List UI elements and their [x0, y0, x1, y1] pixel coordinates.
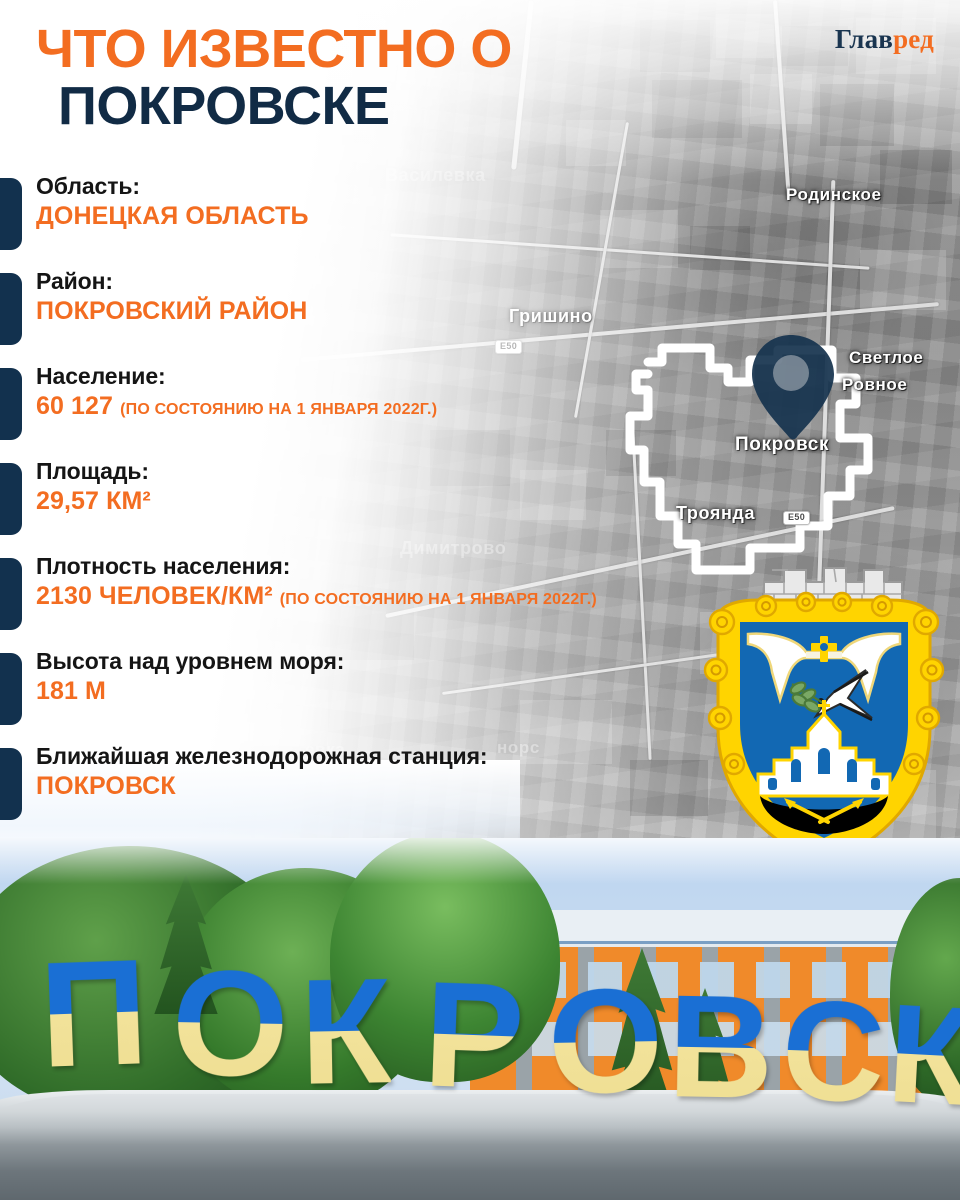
fact-row: Район:ПОКРОВСКИЙ РАЙОН — [0, 267, 760, 362]
fact-label: Население: — [36, 362, 437, 390]
fact-bullet-marker — [0, 273, 22, 345]
fact-label: Район: — [36, 267, 307, 295]
fact-value: ПОКРОВСК — [36, 771, 487, 802]
fact-content: Высота над уровнем моря:181 М — [36, 647, 344, 707]
fact-label: Плотность населения: — [36, 552, 597, 580]
page-title-line2: ПОКРОВСКЕ — [36, 76, 930, 136]
fact-note: (ПО СОСТОЯНИЮ НА 1 ЯНВАРЯ 2022Г.) — [120, 401, 437, 418]
fact-value: 2130 ЧЕЛОВЕК/КМ² (ПО СОСТОЯНИЮ НА 1 ЯНВА… — [36, 581, 597, 612]
fact-row: Область:ДОНЕЦКАЯ ОБЛАСТЬ — [0, 172, 760, 267]
fact-content: Население:60 127 (ПО СОСТОЯНИЮ НА 1 ЯНВА… — [36, 362, 437, 422]
facts-list: Область:ДОНЕЦКАЯ ОБЛАСТЬРайон:ПОКРОВСКИЙ… — [0, 172, 760, 837]
header: ЧТО ИЗВЕСТНО О ПОКРОВСКЕ — [0, 0, 960, 136]
fact-row: Ближайшая железнодорожная станция:ПОКРОВ… — [0, 742, 760, 837]
fact-bullet-marker — [0, 653, 22, 725]
fact-value-text: 2130 ЧЕЛОВЕК/КМ² — [36, 582, 273, 610]
fact-content: Плотность населения:2130 ЧЕЛОВЕК/КМ² (ПО… — [36, 552, 597, 612]
fact-value-text: 60 127 — [36, 392, 113, 420]
infographic-canvas: ВасилевкаРодинскоеГришиноСветлоеРовноеПо… — [0, 0, 960, 1200]
fact-content: Область:ДОНЕЦКАЯ ОБЛАСТЬ — [36, 172, 309, 232]
logo-text-part1: Глав — [835, 24, 893, 54]
fact-note: (ПО СОСТОЯНИЮ НА 1 ЯНВАРЯ 2022Г.) — [280, 591, 597, 608]
fact-value: ДОНЕЦКАЯ ОБЛАСТЬ — [36, 201, 309, 232]
fact-bullet-marker — [0, 558, 22, 630]
fact-value-text: ПОКРОВСКИЙ РАЙОН — [36, 297, 307, 325]
fact-label: Область: — [36, 172, 309, 200]
fact-row: Площадь:29,57 КМ² — [0, 457, 760, 552]
sign-letter: В — [667, 985, 773, 1109]
fact-bullet-marker — [0, 368, 22, 440]
fact-label: Высота над уровнем моря: — [36, 647, 344, 675]
fact-value: ПОКРОВСКИЙ РАЙОН — [36, 296, 307, 327]
sign-letter: К — [299, 967, 391, 1095]
fact-value-text: 29,57 КМ² — [36, 487, 151, 515]
fact-label: Площадь: — [36, 457, 151, 485]
fact-value-text: 181 М — [36, 677, 106, 705]
fact-row: Высота над уровнем моря:181 М — [0, 647, 760, 742]
fact-content: Площадь:29,57 КМ² — [36, 457, 151, 517]
sign-letter: П — [38, 948, 148, 1078]
fact-value: 60 127 (ПО СОСТОЯНИЮ НА 1 ЯНВАРЯ 2022Г.) — [36, 391, 437, 422]
fact-row: Плотность населения:2130 ЧЕЛОВЕК/КМ² (ПО… — [0, 552, 760, 647]
fact-label: Ближайшая железнодорожная станция: — [36, 742, 487, 770]
fact-content: Ближайшая железнодорожная станция:ПОКРОВ… — [36, 742, 487, 802]
sign-letter: О — [171, 959, 288, 1087]
fact-bullet-marker — [0, 463, 22, 535]
page-title-line1: ЧТО ИЗВЕСТНО О — [36, 22, 930, 76]
fact-value-text: ДОНЕЦКАЯ ОБЛАСТЬ — [36, 202, 309, 230]
pokrovsk-city-sign-photo: ПОКРОВСК — [0, 838, 960, 1200]
sign-letter: О — [547, 979, 662, 1105]
fact-bullet-marker — [0, 748, 22, 820]
fact-row: Население:60 127 (ПО СОСТОЯНИЮ НА 1 ЯНВА… — [0, 362, 760, 457]
fact-value-text: ПОКРОВСК — [36, 772, 176, 800]
sign-letter: С — [780, 990, 885, 1113]
fact-bullet-marker — [0, 178, 22, 250]
photo-top-fade — [0, 838, 960, 884]
glavred-logo[interactable]: Главред — [835, 26, 934, 53]
fact-content: Район:ПОКРОВСКИЙ РАЙОН — [36, 267, 307, 327]
sign-letter: Р — [422, 970, 524, 1099]
fact-value: 29,57 КМ² — [36, 486, 151, 517]
pokrovsk-coat-of-arms — [688, 548, 960, 878]
logo-text-part2: ред — [893, 24, 934, 54]
sign-letter: К — [885, 994, 960, 1116]
fact-value: 181 М — [36, 676, 344, 707]
